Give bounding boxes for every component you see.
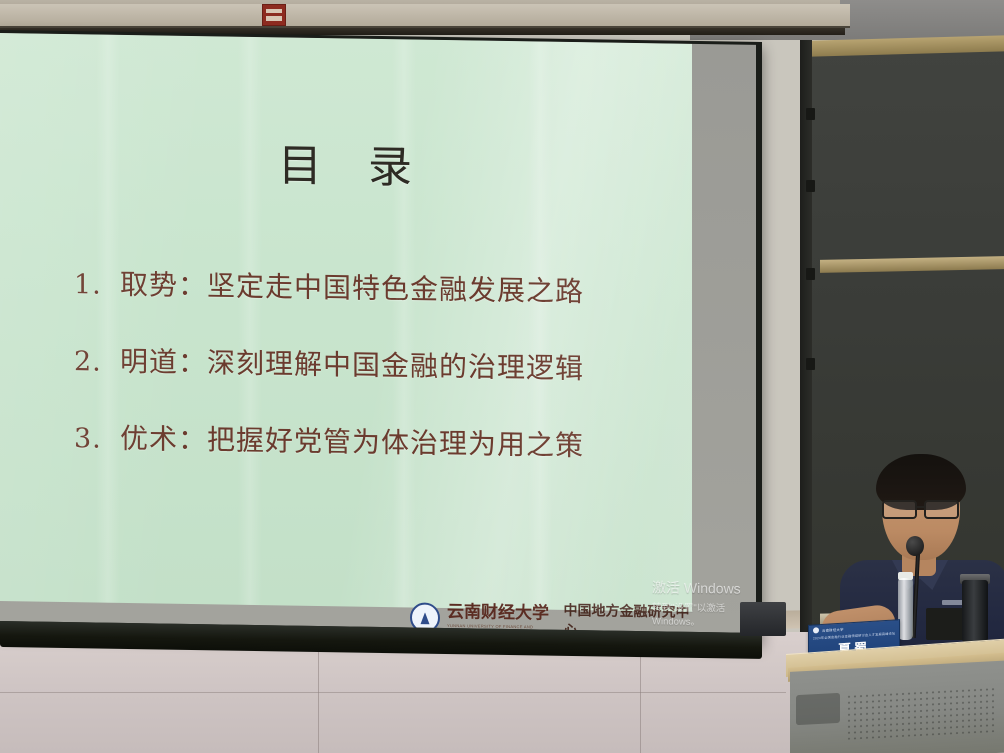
blackboard-clip <box>806 358 815 370</box>
placard-seal-icon <box>813 627 819 633</box>
table-of-contents: 1. 取势：坚定走中国特色金融发展之路 2. 明道：深刻理解中国金融的治理逻辑 … <box>74 262 632 502</box>
projector-screen-case <box>0 4 850 28</box>
projection-screen: 目 录 1. 取势：坚定走中国特色金融发展之路 2. 明道：深刻理解中国金融的治… <box>0 30 762 642</box>
dark-equipment-box <box>926 608 966 640</box>
toc-item-number: 1. <box>74 269 120 301</box>
toc-item-number: 3. <box>74 423 120 455</box>
blackboard-clip <box>806 108 815 120</box>
blackboard-frame-left <box>800 40 812 640</box>
toc-item-label: 明道：深刻理解中国金融的治理逻辑 <box>120 340 584 387</box>
thermos-flask <box>962 580 988 642</box>
side-equipment <box>740 602 786 636</box>
glasses-icon <box>880 500 964 515</box>
university-name-cn: 云南财经大学 <box>447 604 553 623</box>
slide-title: 目 录 <box>0 125 692 200</box>
placard-organization: 云南财经大学 <box>822 626 844 632</box>
lecture-hall-photo: 目 录 1. 取势：坚定走中国特色金融发展之路 2. 明道：深刻理解中国金融的治… <box>0 0 1004 753</box>
toc-item-label: 优术：把握好党管为体治理为用之策 <box>120 417 584 464</box>
presentation-slide: 目 录 1. 取势：坚定走中国特色金融发展之路 2. 明道：深刻理解中国金融的治… <box>0 33 692 612</box>
exit-sign-icon <box>262 4 286 26</box>
lectern-speaker-grille <box>846 686 996 740</box>
lectern-side-panel <box>796 693 840 725</box>
microphone-icon <box>906 536 924 556</box>
blackboard-clip <box>806 180 815 192</box>
toc-item-label: 取势：坚定走中国特色金融发展之路 <box>120 263 584 310</box>
research-center-name: 中国地方金融研究中心 <box>564 600 692 633</box>
toc-item-number: 2. <box>74 346 120 378</box>
toc-item: 1. 取势：坚定走中国特色金融发展之路 <box>74 262 632 311</box>
toc-item: 3. 优术：把握好党管为体治理为用之策 <box>74 416 632 465</box>
toc-item: 2. 明道：深刻理解中国金融的治理逻辑 <box>74 339 632 388</box>
blackboard-clip <box>806 268 815 280</box>
lectern: 云南财经大学 2024年全国金融行业金融领域研讨会人才发展高峰论坛 夏蜀 <box>786 636 1004 753</box>
screen-surface: 目 录 1. 取势：坚定走中国特色金融发展之路 2. 明道：深刻理解中国金融的治… <box>0 33 756 633</box>
water-bottle <box>898 578 913 640</box>
